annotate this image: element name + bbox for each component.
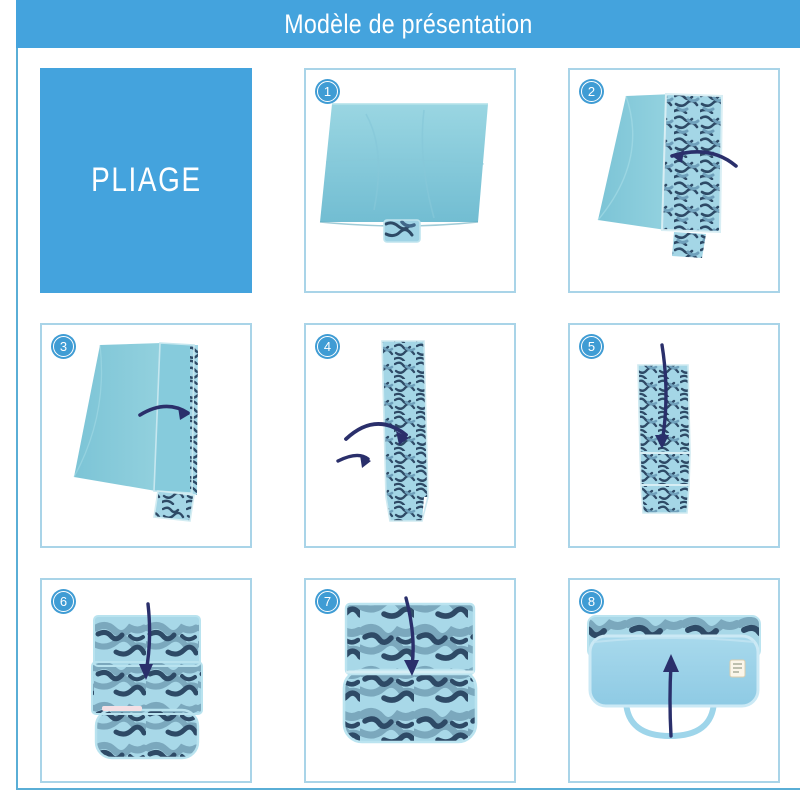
frame-left-border (16, 48, 18, 790)
step-badge-2: 2 (579, 79, 604, 104)
presentation-page: Modèle de présentation PLIAGE 1 (0, 0, 800, 800)
step-badge-1: 1 (315, 79, 340, 104)
page-header: Modèle de présentation (16, 0, 800, 48)
step-cell-1[interactable]: 1 (304, 68, 516, 293)
step-badge-8: 8 (579, 589, 604, 614)
step-illustration-3 (42, 325, 250, 546)
step-illustration-7 (306, 580, 514, 781)
step-number-6: 6 (60, 595, 67, 608)
arrow-lower (338, 455, 371, 468)
step-cell-2[interactable]: 2 (568, 68, 780, 293)
steps-row-3: 6 (40, 578, 780, 783)
step-cell-5[interactable]: 5 (568, 323, 780, 548)
step-badge-4: 4 (315, 334, 340, 359)
step-number-8: 8 (588, 595, 595, 608)
steps-row-2: 3 (40, 323, 780, 548)
page-title: Modèle de présentation (284, 9, 532, 40)
step-cell-7[interactable]: 7 (304, 578, 516, 783)
step-cell-8[interactable]: 8 (568, 578, 780, 783)
step-cell-4[interactable]: 4 (304, 323, 516, 548)
step-badge-6: 6 (51, 589, 76, 614)
intro-panel: PLIAGE (40, 68, 252, 293)
step-number-2: 2 (588, 85, 595, 98)
step-number-5: 5 (588, 340, 595, 353)
step-number-4: 4 (324, 340, 331, 353)
frame-bottom-border (16, 788, 800, 790)
step-badge-3: 3 (51, 334, 76, 359)
step-illustration-8 (570, 580, 778, 781)
step-cell-6[interactable]: 6 (40, 578, 252, 783)
step-number-3: 3 (60, 340, 67, 353)
intro-panel-label: PLIAGE (91, 161, 202, 200)
step-number-7: 7 (324, 595, 331, 608)
steps-grid: PLIAGE 1 (40, 68, 780, 784)
step-illustration-6 (42, 580, 250, 781)
step-illustration-4 (306, 325, 514, 546)
step-cell-3[interactable]: 3 (40, 323, 252, 548)
step-badge-5: 5 (579, 334, 604, 359)
step-number-1: 1 (324, 85, 331, 98)
step-illustration-5 (570, 325, 778, 546)
step-illustration-1 (306, 70, 514, 291)
step-badge-7: 7 (315, 589, 340, 614)
care-tag (102, 706, 142, 711)
steps-row-1: PLIAGE 1 (40, 68, 780, 293)
step-illustration-2 (570, 70, 778, 291)
